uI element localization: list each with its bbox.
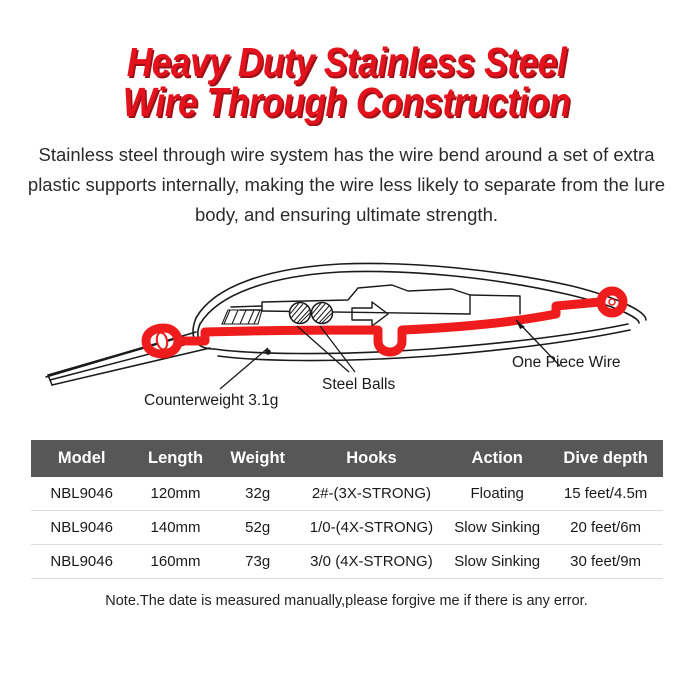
column-header-weight: Weight: [218, 440, 297, 477]
page-title: Heavy Duty Stainless Steel Wire Through …: [49, 0, 645, 122]
cell-length: 120mm: [133, 477, 218, 511]
cell-action: Slow Sinking: [446, 545, 549, 579]
lure-cutaway-diagram: Counterweight 3.1g Steel Balls One Piece…: [0, 244, 693, 434]
column-header-action: Action: [446, 440, 549, 477]
counterweight-marker: [266, 350, 270, 354]
steel-ball-1: [290, 303, 311, 324]
lure-diagram-svg: [0, 244, 693, 434]
cell-weight: 32g: [218, 477, 297, 511]
column-header-dive-depth: Dive depth: [549, 440, 663, 477]
cell-action: Floating: [446, 477, 549, 511]
cell-dive-depth: 20 feet/6m: [549, 511, 663, 545]
cell-hooks: 1/0-(4X-STRONG): [297, 511, 446, 545]
arrow-support: [352, 302, 388, 326]
cell-weight: 73g: [218, 545, 297, 579]
cell-hooks: 3/0 (4X-STRONG): [297, 545, 446, 579]
internal-supports: [231, 285, 520, 314]
column-header-model: Model: [31, 440, 133, 477]
callout-steel-balls: Steel Balls: [322, 376, 395, 394]
callout-counterweight: Counterweight 3.1g: [144, 392, 278, 410]
cell-action: Slow Sinking: [446, 511, 549, 545]
cell-length: 140mm: [133, 511, 218, 545]
column-header-length: Length: [133, 440, 218, 477]
cell-length: 160mm: [133, 545, 218, 579]
headline-line-2: Wire Through Construction: [49, 82, 645, 122]
measurement-note: Note.The date is measured manually,pleas…: [31, 593, 663, 609]
table-header-row: Model Length Weight Hooks Action Dive de…: [31, 440, 663, 477]
intro-paragraph: Stainless steel through wire system has …: [27, 140, 667, 230]
table-header: Model Length Weight Hooks Action Dive de…: [31, 440, 663, 477]
wire-eye-holes: [155, 299, 615, 350]
headline-line-1: Heavy Duty Stainless Steel: [49, 42, 645, 82]
table-row: NBL9046 160mm 73g 3/0 (4X-STRONG) Slow S…: [31, 545, 663, 579]
steel-ball-2: [312, 303, 333, 324]
nose-support-hatching: [222, 310, 262, 324]
callout-one-piece-wire: One Piece Wire: [512, 354, 621, 372]
cell-dive-depth: 30 feet/9m: [549, 545, 663, 579]
specification-table: Model Length Weight Hooks Action Dive de…: [31, 440, 663, 579]
cell-dive-depth: 15 feet/4.5m: [549, 477, 663, 511]
table-row: NBL9046 120mm 32g 2#-(3X-STRONG) Floatin…: [31, 477, 663, 511]
cell-model: NBL9046: [31, 477, 133, 511]
cell-model: NBL9046: [31, 545, 133, 579]
column-header-hooks: Hooks: [297, 440, 446, 477]
table-row: NBL9046 140mm 52g 1/0-(4X-STRONG) Slow S…: [31, 511, 663, 545]
cell-model: NBL9046: [31, 511, 133, 545]
table-body: NBL9046 120mm 32g 2#-(3X-STRONG) Floatin…: [31, 477, 663, 579]
cell-hooks: 2#-(3X-STRONG): [297, 477, 446, 511]
cell-weight: 52g: [218, 511, 297, 545]
one-piece-wire: [146, 291, 623, 354]
